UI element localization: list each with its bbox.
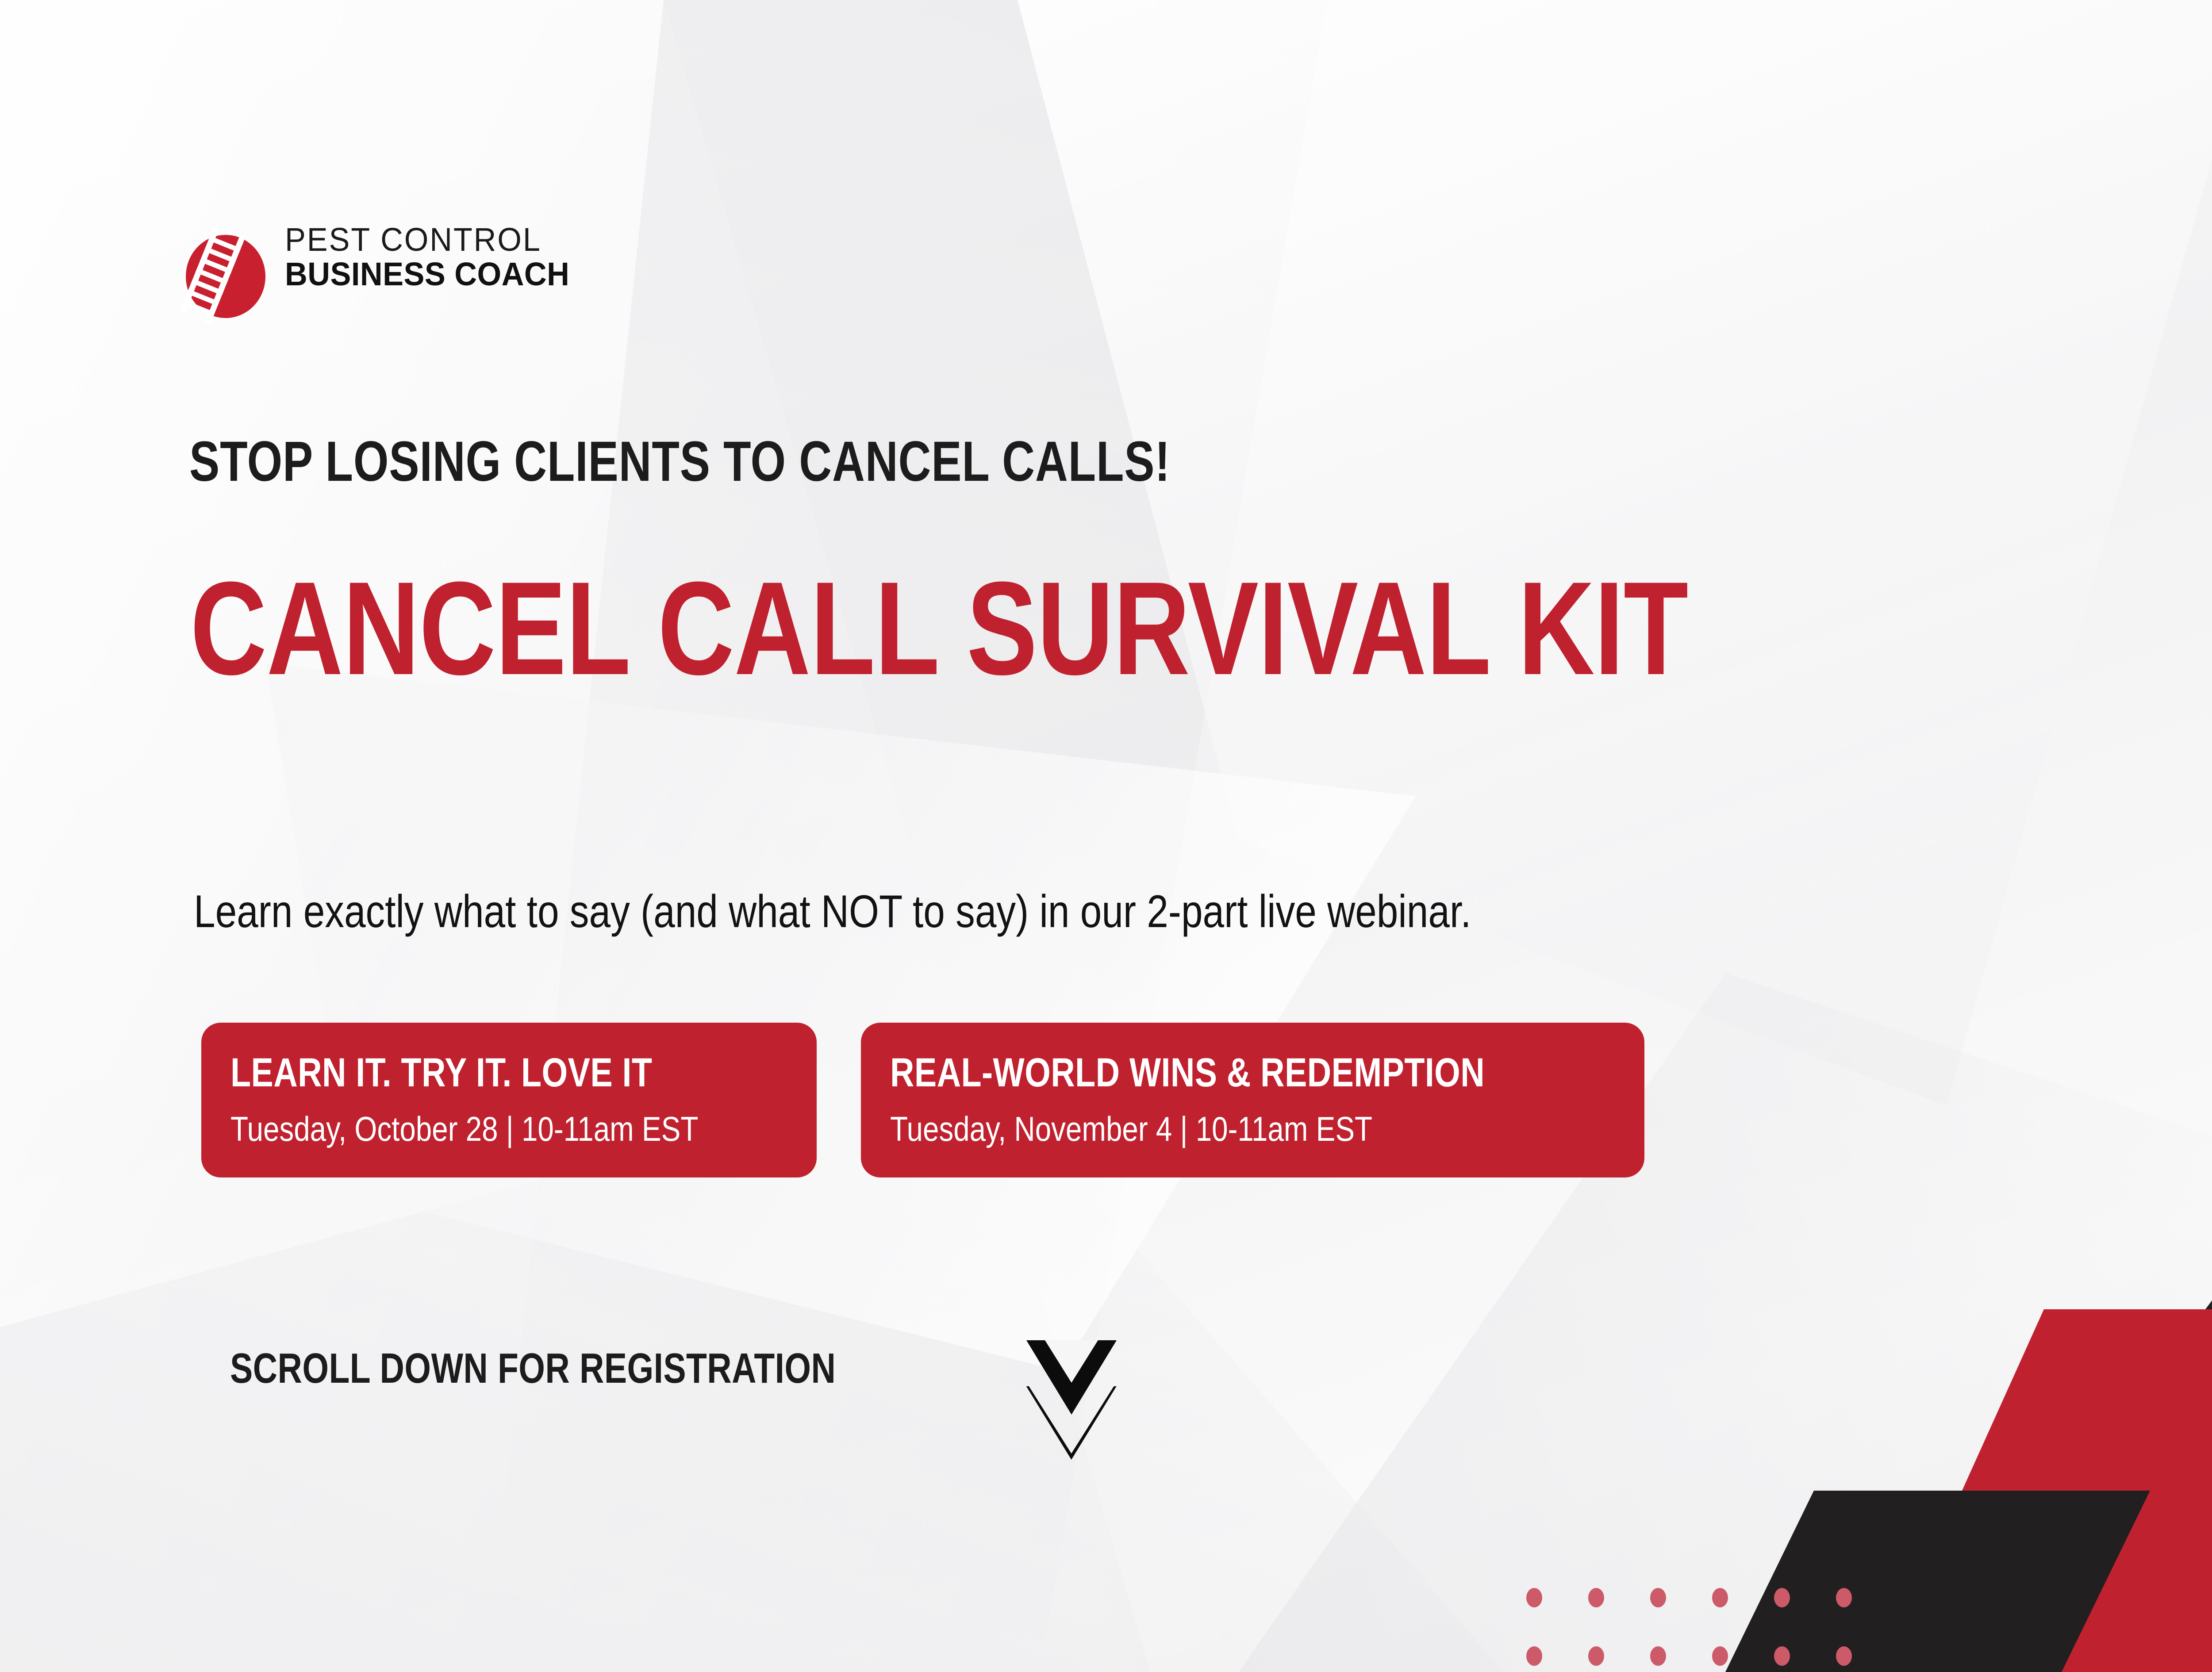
session-schedule: Tuesday, November 4 | 10-11am EST: [890, 1112, 1499, 1146]
dot: [1836, 1646, 1852, 1666]
scroll-cue-label: SCROLL DOWN FOR REGISTRATION: [230, 1340, 836, 1390]
dot: [1712, 1588, 1728, 1607]
logo-line-2: BUSINESS COACH: [285, 256, 569, 293]
dot: [1774, 1588, 1790, 1607]
dot: [1526, 1588, 1542, 1607]
logo-line-1: PEST CONTROL: [285, 223, 569, 256]
hero-subhead: Learn exactly what to say (and what NOT …: [194, 886, 1471, 939]
hero-kicker: STOP LOSING CLIENTS TO CANCEL CALLS!: [189, 433, 1170, 490]
chevron-notch: [1045, 1340, 1098, 1383]
dot: [1526, 1646, 1542, 1666]
dot: [1650, 1588, 1666, 1607]
webinar-promo-banner: PEST CONTROL BUSINESS COACH STOP LOSING …: [0, 0, 2212, 1672]
logo-wordmark: PEST CONTROL BUSINESS COACH: [285, 223, 584, 293]
session-title: LEARN IT. TRY IT. LOVE IT: [230, 1052, 687, 1093]
session-title: REAL-WORLD WINS & REDEMPTION: [890, 1052, 1485, 1093]
session-schedule: Tuesday, October 28 | 10-11am EST: [230, 1112, 698, 1146]
session-card-1[interactable]: LEARN IT. TRY IT. LOVE IT Tuesday, Octob…: [201, 1023, 817, 1177]
session-card-2[interactable]: REAL-WORLD WINS & REDEMPTION Tuesday, No…: [861, 1023, 1644, 1177]
dot: [1836, 1588, 1852, 1607]
dot: [1588, 1646, 1604, 1666]
brand-logo: PEST CONTROL BUSINESS COACH: [180, 223, 733, 325]
dot: [1774, 1646, 1790, 1666]
scroll-cue[interactable]: SCROLL DOWN FOR REGISTRATION: [230, 1340, 1125, 1460]
dot-grid-bottom: [1526, 1588, 1852, 1666]
dot: [1588, 1588, 1604, 1607]
dot: [1650, 1646, 1666, 1666]
page-title: CANCEL CALL SURVIVAL KIT: [190, 562, 1688, 694]
dot: [1712, 1646, 1728, 1666]
ladder-in-circle-icon: [180, 231, 273, 320]
session-list: LEARN IT. TRY IT. LOVE IT Tuesday, Octob…: [201, 1023, 1644, 1177]
chevron-down-icon[interactable]: [1018, 1340, 1125, 1460]
